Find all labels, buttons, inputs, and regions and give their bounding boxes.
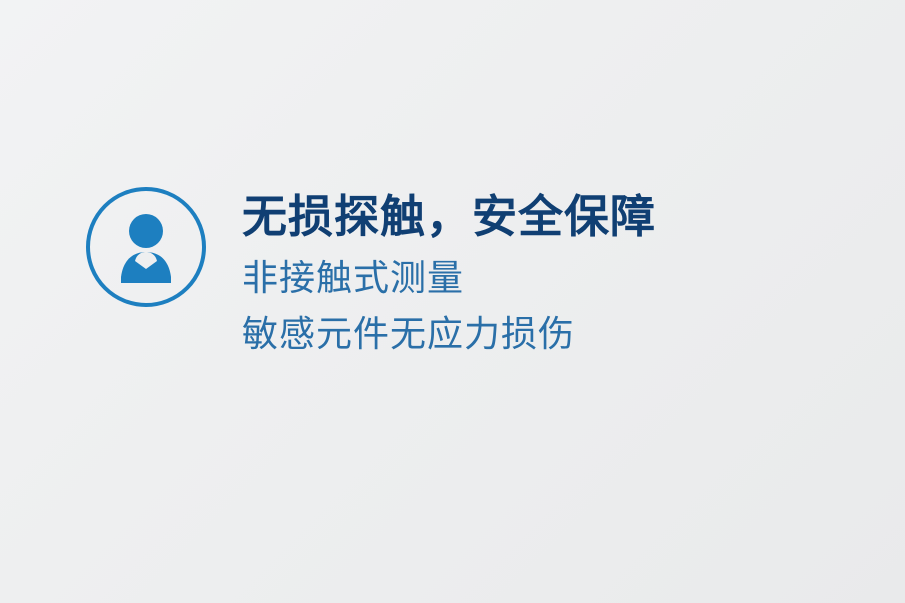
person-badge [86, 187, 206, 307]
subline-2: 敏感元件无应力损伤 [242, 306, 656, 362]
subline-1: 非接触式测量 [242, 250, 656, 306]
feature-content: 无损探触，安全保障 非接触式测量 敏感元件无应力损伤 [86, 185, 656, 362]
headline: 无损探触，安全保障 [242, 193, 656, 240]
feature-slide: 无损探触，安全保障 非接触式测量 敏感元件无应力损伤 [0, 0, 905, 603]
feature-text-block: 无损探触，安全保障 非接触式测量 敏感元件无应力损伤 [242, 185, 656, 362]
person-bust-icon [90, 191, 202, 303]
